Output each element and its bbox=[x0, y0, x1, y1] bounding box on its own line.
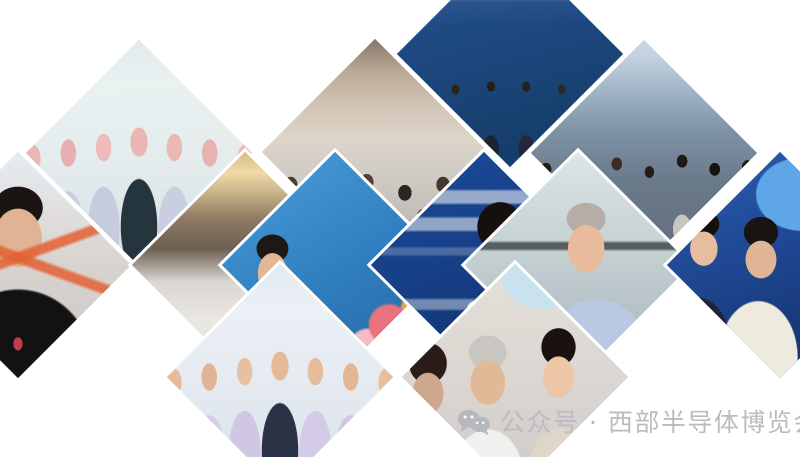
photo-mosaic-collage: 公众号 · 西部半导体博览会 bbox=[0, 0, 800, 457]
